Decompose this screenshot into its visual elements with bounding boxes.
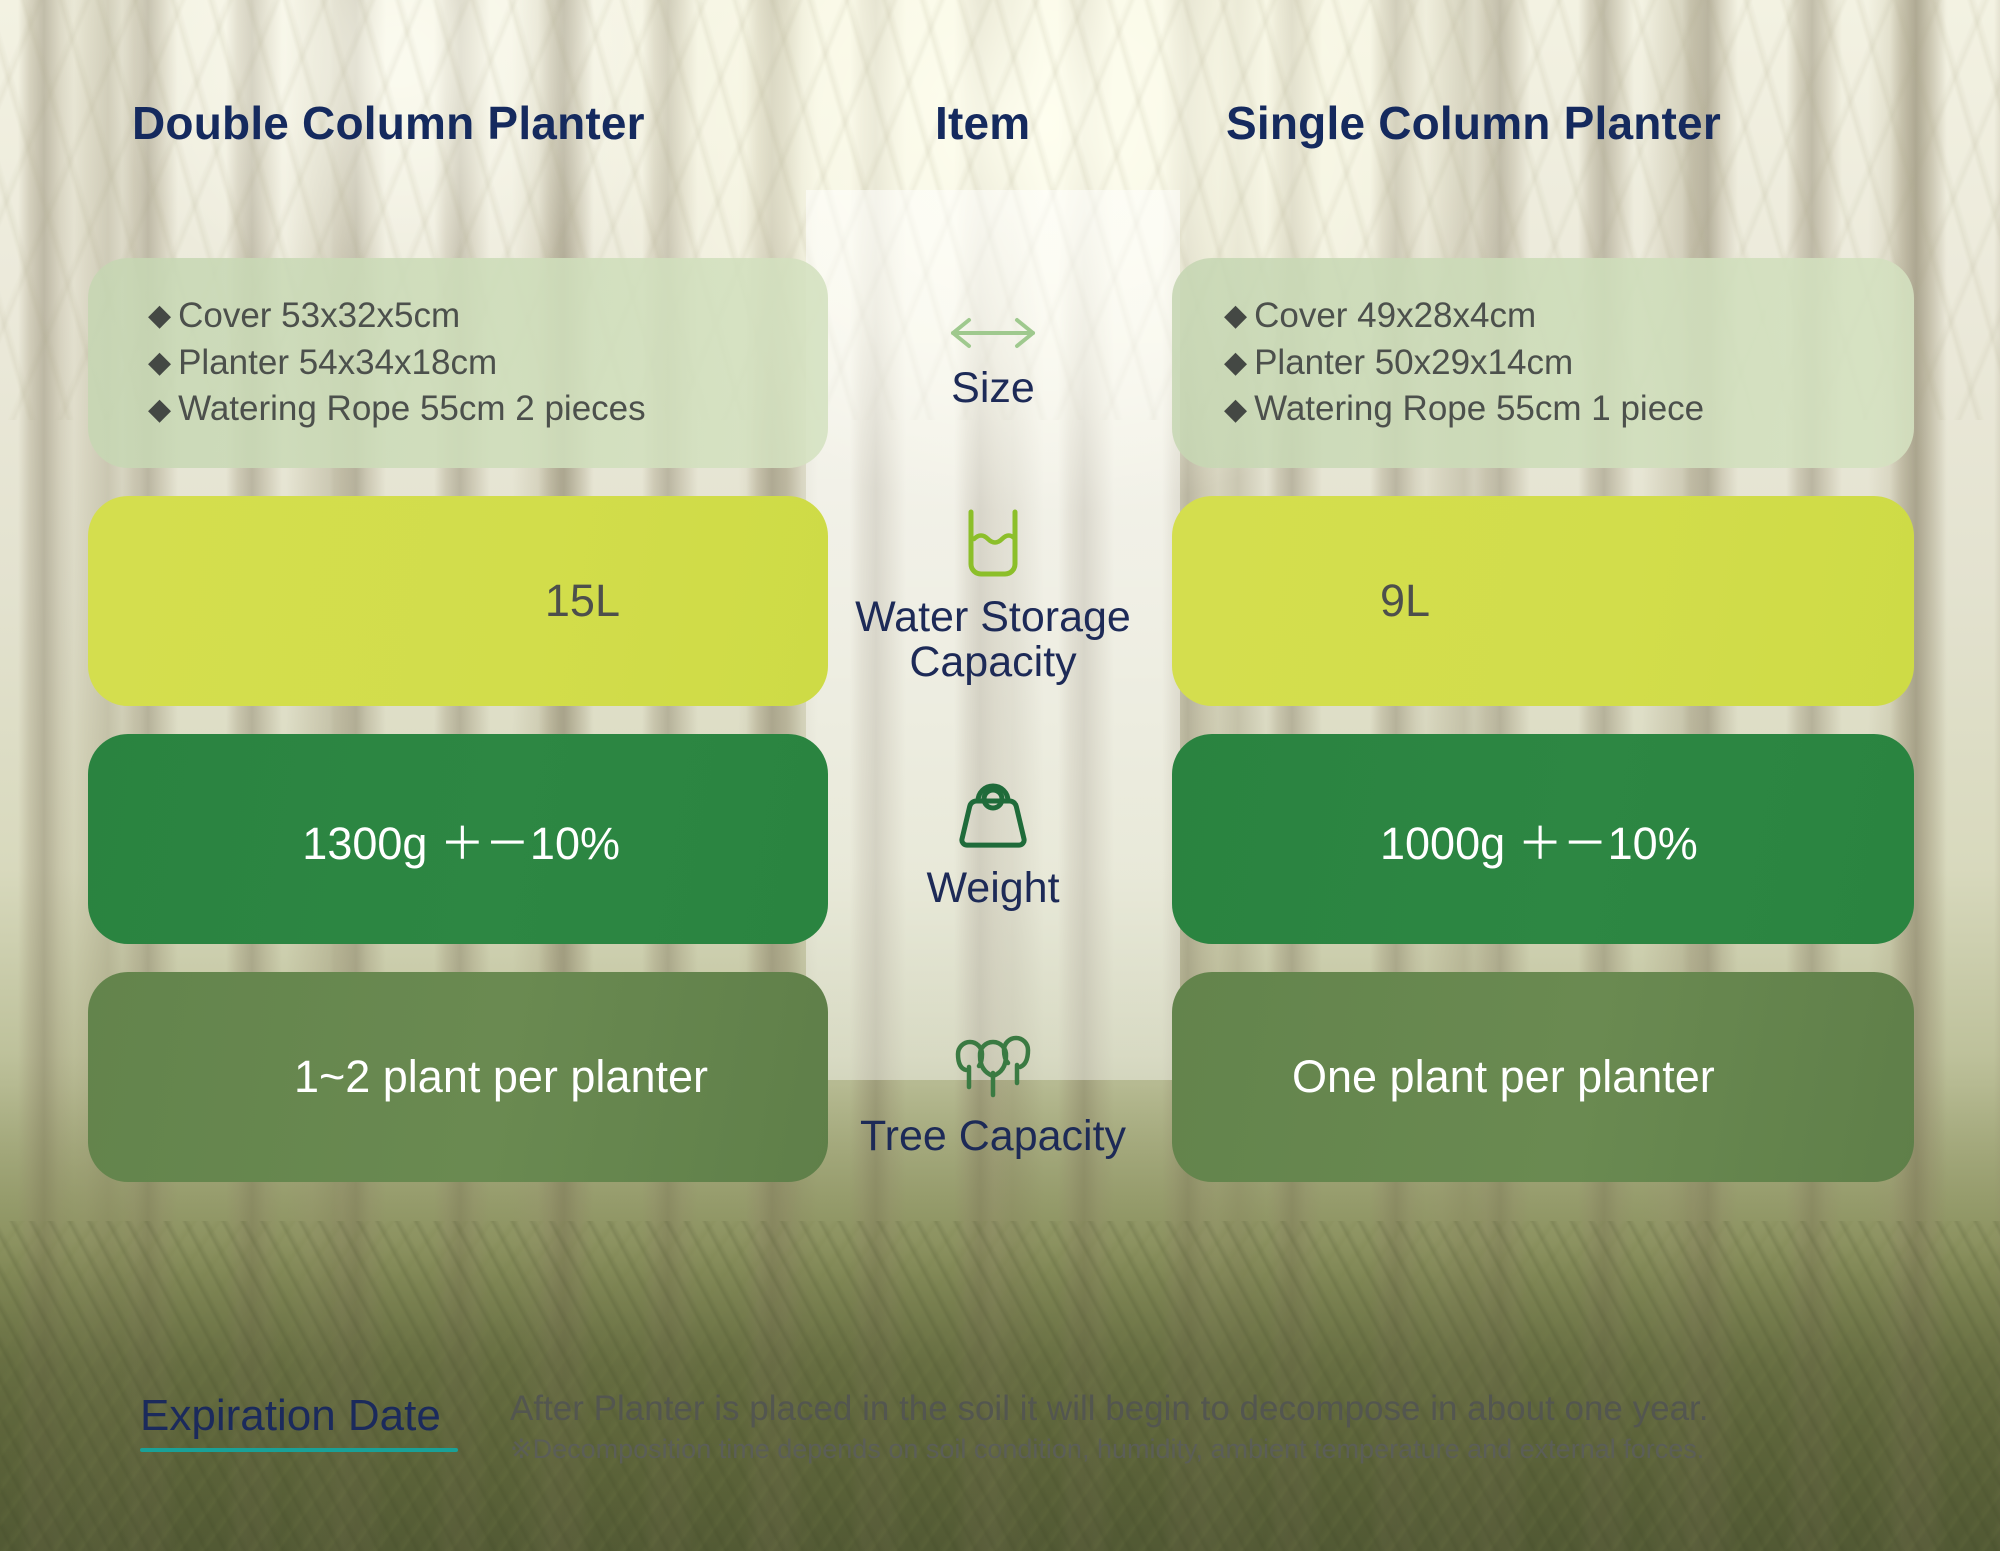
water-right-bar: 9L — [1172, 496, 1914, 706]
comparison-rows: ◆ Cover 53x32x5cm ◆ Planter 54x34x18cm ◆… — [0, 258, 2000, 1210]
weight-right-value: 1000g ＋－10% — [1172, 807, 1698, 872]
center-label-weight: Weight — [926, 866, 1059, 911]
footer-section: Expiration Date After Planter is placed … — [0, 1388, 2000, 1518]
spec-item: ◆ Cover 49x28x4cm — [1224, 293, 1880, 340]
row-tree-capacity: 1~2 plant per planter — [0, 972, 2000, 1182]
water-left-bar: 15L — [88, 496, 828, 706]
center-cell-water-storage: Water Storage Capacity — [806, 490, 1180, 700]
diamond-bullet-icon: ◆ — [148, 301, 171, 331]
decomposition-note-block: After Planter is placed in the soil it w… — [510, 1388, 1970, 1467]
row-size: ◆ Cover 53x32x5cm ◆ Planter 54x34x18cm ◆… — [0, 258, 2000, 468]
tree-right-value: One plant per planter — [1172, 1051, 1715, 1103]
center-label-water-storage: Water Storage Capacity — [855, 595, 1131, 684]
center-label-tree-capacity: Tree Capacity — [860, 1114, 1126, 1159]
spec-text: Planter 54x34x18cm — [178, 340, 497, 387]
weight-left-value: 1300g ＋－10% — [302, 807, 828, 872]
diamond-bullet-icon: ◆ — [1224, 301, 1247, 331]
spec-text: Cover 49x28x4cm — [1254, 293, 1536, 340]
row-water-storage: 15L Water Storage Capacity 9L — [0, 496, 2000, 706]
header-right-product: Single Column Planter — [1226, 96, 1721, 150]
header-left-product: Double Column Planter — [132, 96, 645, 150]
three-trees-icon — [943, 1023, 1043, 1108]
spec-item: ◆ Planter 54x34x18cm — [148, 340, 808, 387]
center-cell-weight: Weight — [806, 738, 1180, 948]
weight-right-bar: 1000g ＋－10% — [1172, 734, 1914, 944]
expiration-date-underline — [140, 1448, 458, 1452]
spec-text: Cover 53x32x5cm — [178, 293, 460, 340]
diamond-bullet-icon: ◆ — [1224, 348, 1247, 378]
size-right-spec-list: ◆ Cover 49x28x4cm ◆ Planter 50x29x14cm ◆… — [1172, 293, 1914, 433]
row-weight: 1300g ＋－10% Weight 1000g ＋－10% — [0, 734, 2000, 944]
tree-right-bar: One plant per planter — [1172, 972, 1914, 1182]
horizontal-double-arrow-icon — [945, 311, 1041, 360]
spec-text: Watering Rope 55cm 1 piece — [1254, 386, 1704, 433]
weight-left-bar: 1300g ＋－10% — [88, 734, 828, 944]
spec-text: Planter 50x29x14cm — [1254, 340, 1573, 387]
comparison-infographic: Double Column Planter Item Single Column… — [0, 0, 2000, 1551]
diamond-bullet-icon: ◆ — [1224, 395, 1247, 425]
diamond-bullet-icon: ◆ — [148, 348, 171, 378]
header-item-column: Item — [935, 96, 1030, 150]
center-cell-tree-capacity: Tree Capacity — [806, 986, 1180, 1196]
spec-item: ◆ Planter 50x29x14cm — [1224, 340, 1880, 387]
spec-item: ◆ Watering Rope 55cm 1 piece — [1224, 386, 1880, 433]
column-headers: Double Column Planter Item Single Column… — [0, 96, 2000, 166]
spec-text: Watering Rope 55cm 2 pieces — [178, 386, 646, 433]
size-left-panel: ◆ Cover 53x32x5cm ◆ Planter 54x34x18cm ◆… — [88, 258, 828, 468]
diamond-bullet-icon: ◆ — [148, 395, 171, 425]
expiration-date-title: Expiration Date — [140, 1394, 458, 1448]
water-left-value: 15L — [545, 575, 828, 627]
size-left-spec-list: ◆ Cover 53x32x5cm ◆ Planter 54x34x18cm ◆… — [88, 293, 828, 433]
tree-left-value: 1~2 plant per planter — [294, 1051, 828, 1103]
size-right-panel: ◆ Cover 49x28x4cm ◆ Planter 50x29x14cm ◆… — [1172, 258, 1914, 468]
decomposition-note-main: After Planter is placed in the soil it w… — [510, 1388, 1970, 1429]
center-label-size: Size — [951, 366, 1035, 411]
center-cell-size: Size — [806, 256, 1180, 466]
water-right-value: 9L — [1172, 575, 1430, 627]
decomposition-note-sub: ※Decomposition time depends on soil cond… — [510, 1432, 1970, 1467]
water-container-icon — [951, 506, 1035, 589]
weight-icon — [950, 775, 1036, 860]
tree-left-bar: 1~2 plant per planter — [88, 972, 828, 1182]
expiration-date-block: Expiration Date — [140, 1394, 458, 1452]
spec-item: ◆ Watering Rope 55cm 2 pieces — [148, 386, 808, 433]
spec-item: ◆ Cover 53x32x5cm — [148, 293, 808, 340]
